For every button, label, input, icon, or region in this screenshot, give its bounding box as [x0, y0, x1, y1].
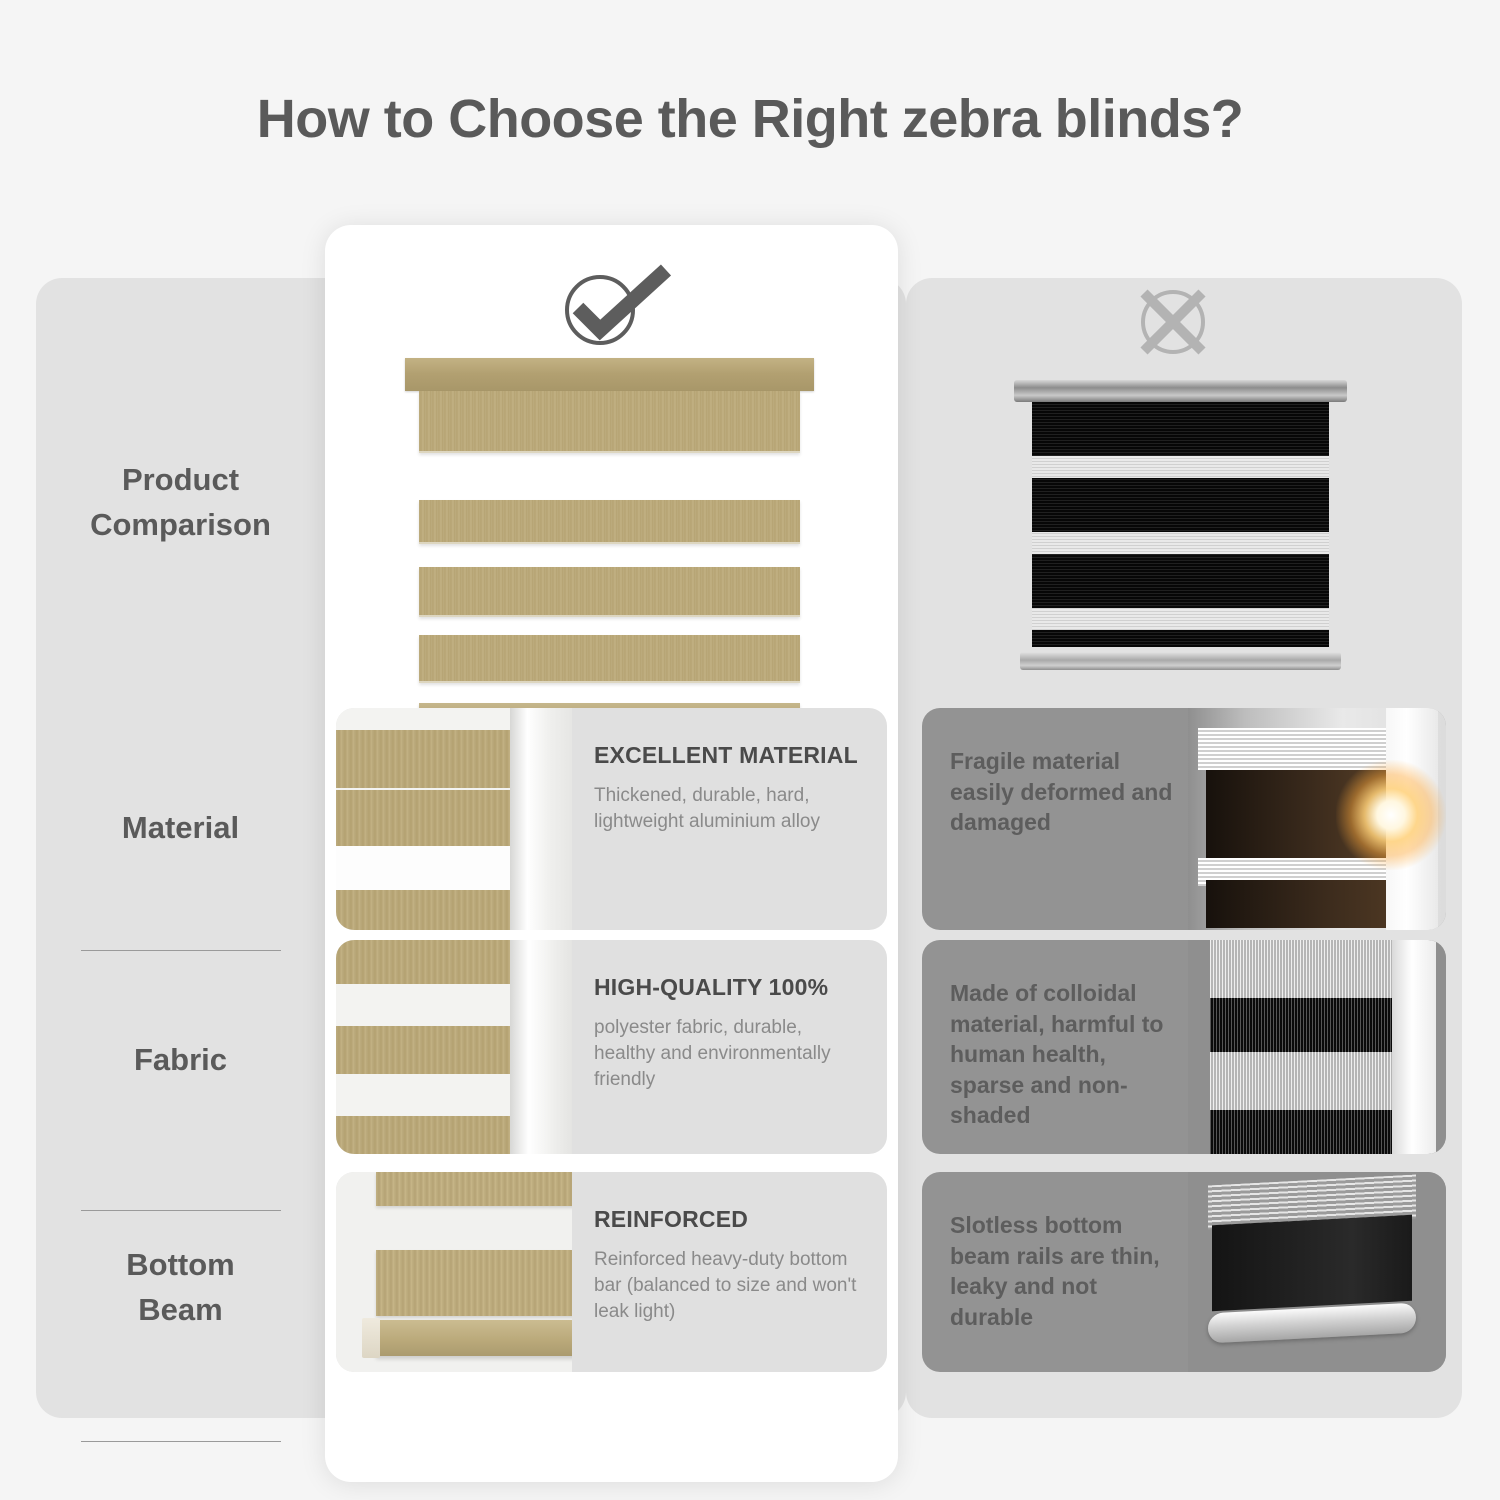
check-circle-icon	[548, 262, 678, 352]
blind-sheer-gap	[336, 846, 514, 890]
page-title: How to Choose the Right zebra blinds?	[0, 88, 1500, 150]
blind-panel-dark	[1212, 1215, 1412, 1311]
good-bottom-beam-image	[336, 1172, 572, 1372]
sidebar-label-fabric: Fabric	[134, 1042, 227, 1077]
bad-bottom-beam-text: Slotless bottom beam rails are thin, lea…	[922, 1172, 1188, 1372]
good-fabric-description: polyester fabric, durable, healthy and e…	[594, 1015, 861, 1094]
blind-slat	[336, 940, 514, 984]
black-zebra-blind-image	[1014, 380, 1347, 670]
good-material-description: Thickened, durable, hard, lightweight al…	[594, 783, 861, 835]
good-fabric-text: HIGH-QUALITY 100% polyester fabric, dura…	[572, 940, 887, 1154]
bad-feature-bottom-beam: Slotless bottom beam rails are thin, lea…	[922, 1172, 1446, 1372]
sidebar-label-product-comparison: Product Comparison	[90, 462, 271, 542]
good-material-heading: EXCELLENT MATERIAL	[594, 742, 861, 769]
blind-bottom-bar	[1020, 652, 1341, 670]
sidebar-label-material: Material	[122, 810, 239, 845]
sidebar-divider	[81, 1210, 281, 1211]
good-fabric-image	[336, 940, 572, 1154]
sidebar-divider	[81, 1441, 281, 1442]
good-material-text: EXCELLENT MATERIAL Thickened, durable, h…	[572, 708, 887, 930]
blind-slat	[419, 500, 800, 544]
good-feature-material: EXCELLENT MATERIAL Thickened, durable, h…	[336, 708, 887, 930]
sidebar-item-fabric: Fabric	[36, 1038, 325, 1083]
good-feature-fabric: HIGH-QUALITY 100% polyester fabric, dura…	[336, 940, 887, 1154]
good-bottom-beam-heading: REINFORCED	[594, 1206, 861, 1233]
blind-fabric	[1032, 402, 1329, 647]
blind-slat	[336, 1026, 514, 1074]
blind-panel-dark	[1206, 880, 1396, 928]
blind-slat	[376, 1250, 572, 1316]
comparison-criteria-sidebar: Product Comparison Material Fabric Botto…	[36, 278, 325, 1418]
bad-feature-material: Fragile material easily deformed and dam…	[922, 708, 1446, 930]
good-material-image	[336, 708, 572, 930]
blind-slat	[336, 790, 514, 846]
good-bottom-beam-description: Reinforced heavy-duty bottom bar (balanc…	[594, 1247, 861, 1326]
cross-circle-icon	[1128, 280, 1218, 360]
bottom-bar-end-cap	[362, 1318, 380, 1358]
sidebar-divider	[81, 950, 281, 951]
good-fabric-heading: HIGH-QUALITY 100%	[594, 974, 861, 1001]
blind-slat	[376, 1172, 572, 1206]
bad-material-text: Fragile material easily deformed and dam…	[922, 708, 1188, 930]
good-feature-bottom-beam: REINFORCED Reinforced heavy-duty bottom …	[336, 1172, 887, 1372]
sun-glare-icon	[1336, 760, 1446, 870]
bad-fabric-text: Made of colloidal material, harmful to h…	[922, 940, 1188, 1154]
bad-material-image	[1188, 708, 1446, 930]
sidebar-item-bottom-beam: Bottom Beam	[36, 1243, 325, 1333]
reinforced-bottom-bar	[376, 1320, 572, 1356]
good-bottom-beam-text: REINFORCED Reinforced heavy-duty bottom …	[572, 1172, 887, 1372]
sidebar-item-material: Material	[36, 806, 325, 851]
blind-headrail	[405, 358, 814, 391]
tan-zebra-blind-image	[405, 358, 814, 697]
bad-feature-fabric: Made of colloidal material, harmful to h…	[922, 940, 1446, 1154]
sidebar-label-bottom-beam: Bottom Beam	[126, 1247, 234, 1327]
blind-slat	[419, 567, 800, 617]
blind-headrail	[1014, 380, 1347, 402]
window-frame	[510, 940, 572, 1154]
blind-slat	[419, 391, 800, 453]
window-frame	[510, 708, 572, 930]
blind-slat	[336, 1116, 514, 1154]
blind-slat	[419, 635, 800, 683]
sheer-mesh-fabric	[1210, 940, 1398, 1154]
blind-slat	[336, 730, 514, 788]
sidebar-item-product-comparison: Product Comparison	[36, 458, 325, 548]
bad-fabric-image	[1188, 940, 1446, 1154]
blind-slat	[336, 890, 514, 930]
bad-bottom-beam-image	[1188, 1172, 1446, 1372]
window-frame	[1392, 940, 1436, 1154]
